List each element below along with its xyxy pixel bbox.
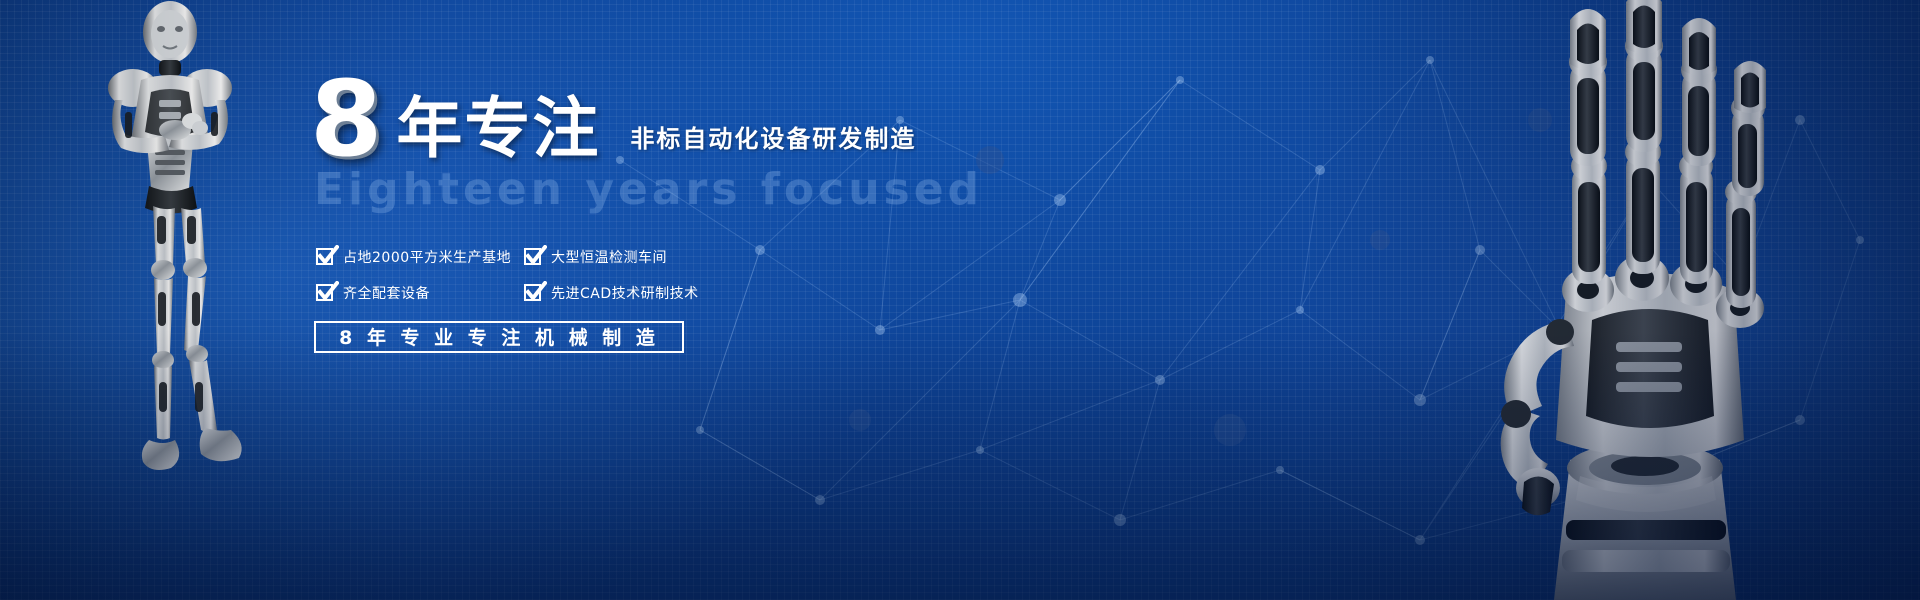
feature-label: 占地2000平方米生产基地 <box>343 247 511 267</box>
feature-label: 先进CAD技术研制技术 <box>551 283 699 303</box>
check-icon <box>316 248 333 265</box>
headline-subtitle: 非标自动化设备研发制造 <box>630 119 916 154</box>
tagline-english: Eighteen years focused <box>314 164 1090 215</box>
feature-label: 齐全配套设备 <box>343 283 430 303</box>
headline-row: 8 年专注 非标自动化设备研发制造 <box>310 72 1090 168</box>
check-icon <box>524 248 541 265</box>
slogan-bar: 8 年 专 业 专 注 机 械 制 造 <box>314 321 684 353</box>
feature-item: 齐全配套设备 <box>316 283 524 303</box>
check-icon <box>524 284 541 301</box>
hero-copy-block: 8 年专注 非标自动化设备研发制造 Eighteen years focused… <box>310 72 1090 353</box>
humanoid-robot-figure <box>55 0 285 500</box>
headline-chinese: 年专注 <box>396 94 600 163</box>
headline-number: 8 <box>310 72 380 168</box>
feature-list: 占地2000平方米生产基地 大型恒温检测车间 齐全配套设备 先进CAD技术研制技… <box>316 247 1090 303</box>
hero-banner: 8 年专注 非标自动化设备研发制造 Eighteen years focused… <box>0 0 1920 600</box>
slogan-text: 8 年 专 业 专 注 机 械 制 造 <box>339 323 659 350</box>
check-icon <box>316 284 333 301</box>
feature-label: 大型恒温检测车间 <box>551 247 667 267</box>
feature-item: 大型恒温检测车间 <box>524 247 764 267</box>
robotic-hand-figure <box>1420 0 1890 600</box>
feature-item: 先进CAD技术研制技术 <box>524 283 764 303</box>
feature-item: 占地2000平方米生产基地 <box>316 247 524 267</box>
